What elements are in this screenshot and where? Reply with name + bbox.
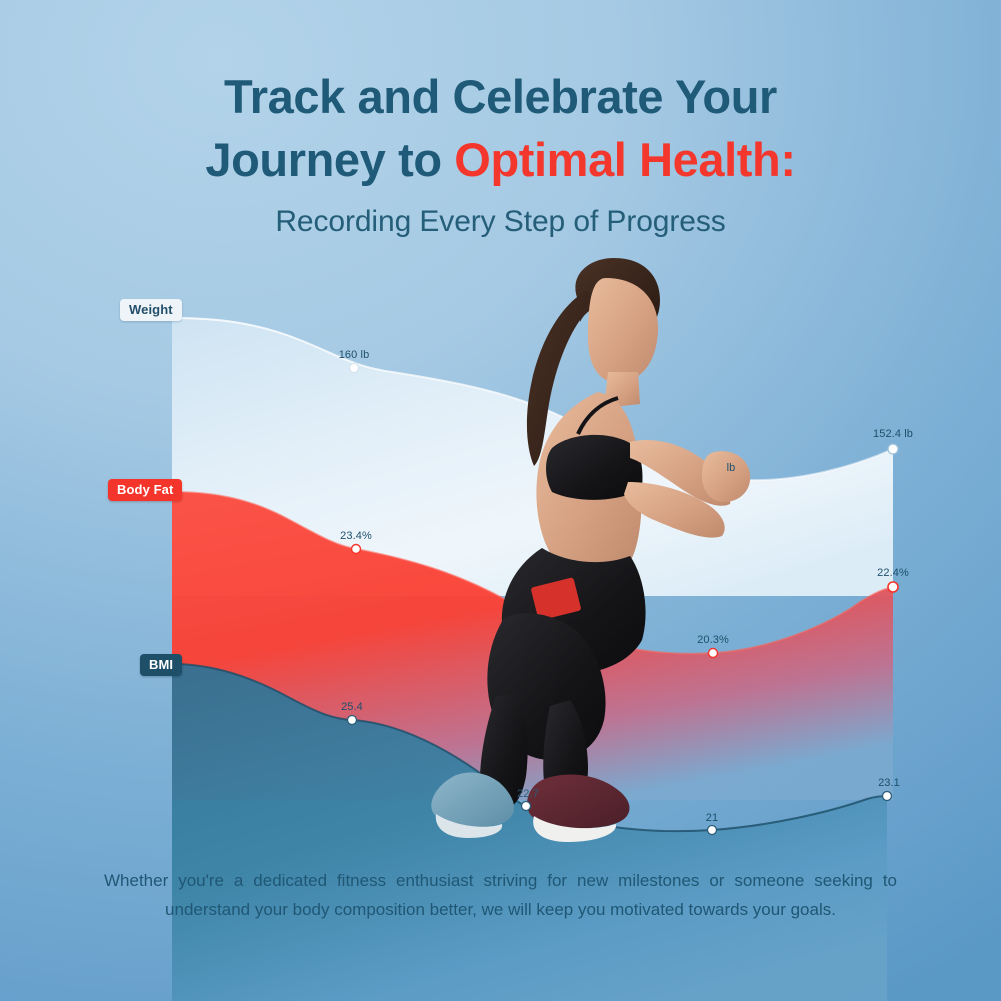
- headline-subtitle: Recording Every Step of Progress: [0, 205, 1001, 239]
- headline-block: Track and Celebrate Your Journey to Opti…: [0, 66, 1001, 239]
- athlete-shoe-maroon: [527, 775, 630, 829]
- headline-line-2-plain: Journey to: [205, 133, 454, 186]
- data-label-fat-23-4: 23.4%: [340, 530, 372, 542]
- athlete-fist: [702, 451, 750, 502]
- data-label-weight-mid: lb: [727, 462, 736, 474]
- data-point-weight-152-4[interactable]: [888, 444, 898, 454]
- series-badge-weight[interactable]: Weight: [120, 299, 182, 321]
- series-badge-body-fat[interactable]: Body Fat: [108, 479, 182, 501]
- data-point-fat-23-4[interactable]: [352, 545, 361, 554]
- headline-line-1: Track and Celebrate Your: [0, 66, 1001, 129]
- data-label-weight-152-4: 152.4 lb: [873, 428, 913, 440]
- athlete-photo: [392, 252, 792, 852]
- series-badge-bmi[interactable]: BMI: [140, 654, 182, 676]
- data-label-fat-20-3: 20.3%: [697, 634, 729, 646]
- data-label-fat-22-4: 22.4%: [877, 567, 909, 579]
- data-label-bmi-21: 21: [706, 812, 718, 824]
- data-label-bmi-23-1: 23.1: [878, 777, 900, 789]
- data-label-bmi-22-7: 22.7: [517, 788, 539, 800]
- data-point-fat-22-4[interactable]: [888, 582, 898, 592]
- infographic-canvas: Track and Celebrate Your Journey to Opti…: [0, 0, 1001, 1001]
- headline-line-2: Journey to Optimal Health:: [0, 129, 1001, 192]
- footer-paragraph: Whether you're a dedicated fitness enthu…: [104, 866, 897, 924]
- headline-line-2-accent: Optimal Health:: [454, 133, 795, 186]
- data-point-weight-160[interactable]: [350, 364, 359, 373]
- data-label-bmi-25-4: 25.4: [341, 701, 363, 713]
- data-label-weight-160: 160 lb: [339, 349, 370, 361]
